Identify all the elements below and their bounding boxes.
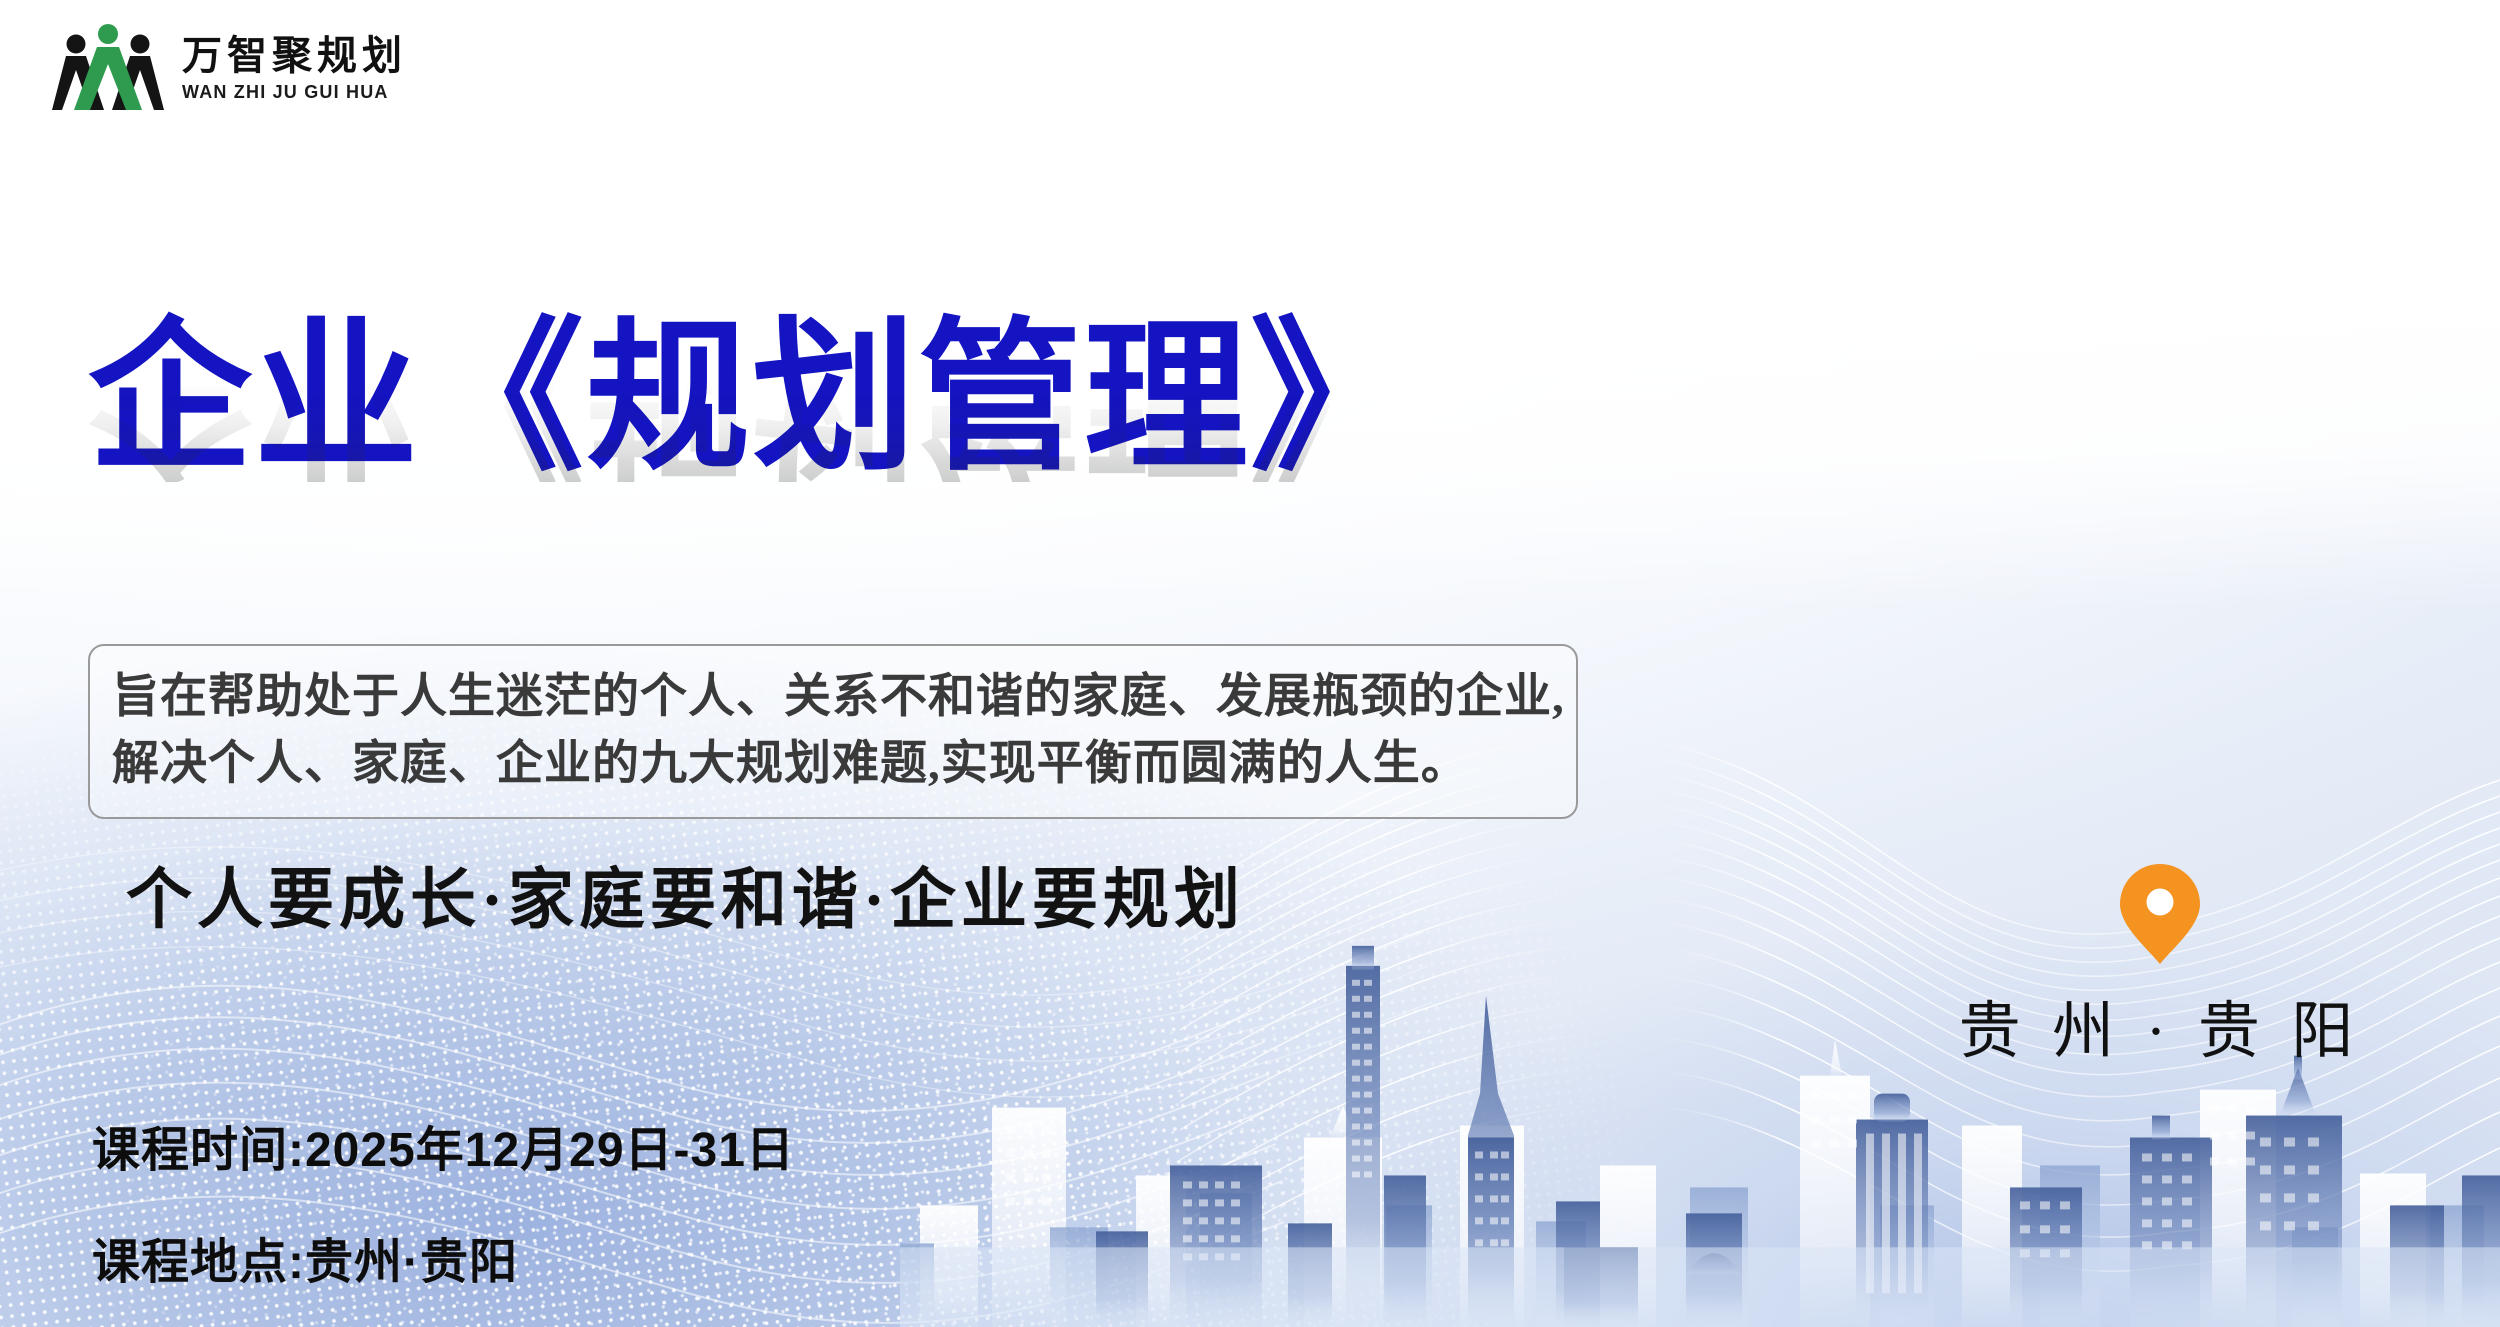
brand-name-pinyin: WAN ZHI JU GUI HUA [182, 83, 407, 101]
page-title-reflection: 企业《规划管理》 [88, 318, 1416, 482]
course-place: 课程地点:贵州·贵阳 [92, 1222, 795, 1292]
description-line-1: 旨在帮助处于人生迷茫的个人、关系不和谐的家庭、发展瓶颈的企业, [112, 664, 1554, 731]
map-pin-icon [2117, 862, 2203, 966]
brand-name-cn: 万智聚规划 [182, 36, 407, 76]
poster-canvas: 万智聚规划 WAN ZHI JU GUI HUA 企业《规划管理》 企业《规划管… [0, 0, 2500, 1327]
three-people-m-logo-icon [52, 22, 164, 114]
description-line-2: 解决个人、家庭、企业的九大规划难题,实现平衡而圆满的人生。 [112, 731, 1554, 798]
description-box: 旨在帮助处于人生迷茫的个人、关系不和谐的家庭、发展瓶颈的企业, 解决个人、家庭、… [88, 644, 1578, 819]
slogan-text: 个人要成长·家庭要和谐·企业要规划 [126, 846, 1245, 942]
brand-logo[interactable]: 万智聚规划 WAN ZHI JU GUI HUA [52, 22, 407, 114]
course-date: 课程时间:2025年12月29日-31日 [92, 1110, 795, 1180]
course-info: 课程时间:2025年12月29日-31日 课程地点:贵州·贵阳 [92, 1110, 795, 1292]
location-block: 贵 州 · 贵 阳 [1960, 862, 2360, 1070]
hero-title-block: 企业《规划管理》 企业《规划管理》 [88, 316, 1416, 646]
location-label: 贵 州 · 贵 阳 [1959, 980, 2362, 1070]
